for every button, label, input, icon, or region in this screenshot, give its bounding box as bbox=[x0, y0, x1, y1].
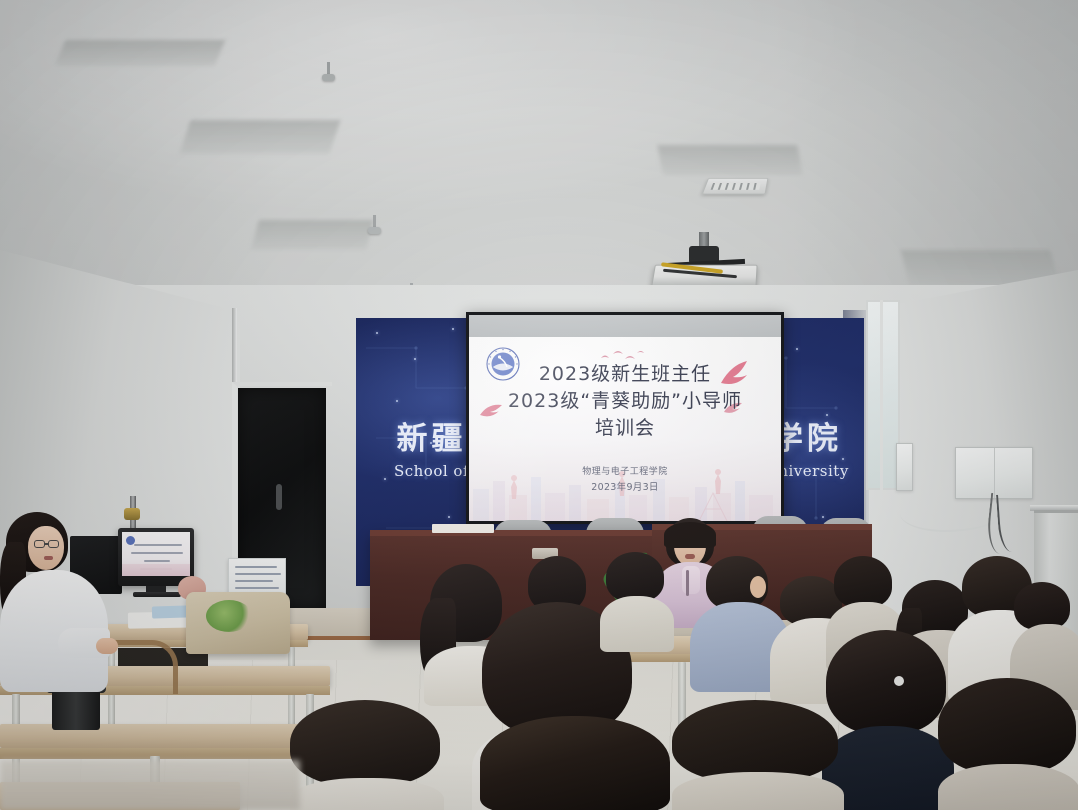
ceiling-stain bbox=[179, 120, 340, 154]
projector-icon[interactable] bbox=[645, 232, 763, 288]
window-mullion bbox=[880, 300, 883, 490]
audience-person-foreground bbox=[290, 700, 440, 810]
paper-on-table bbox=[432, 524, 494, 533]
audience-person-foreground bbox=[938, 678, 1078, 810]
seated-woman-with-glasses bbox=[0, 512, 110, 692]
slide-title: 2023级新生班主任 2023级“青葵助励”小导师 培训会 bbox=[469, 361, 781, 442]
trash-can bbox=[52, 690, 100, 730]
projection-screen-top-band bbox=[469, 315, 781, 339]
slide-title-line-3: 培训会 bbox=[469, 415, 781, 442]
audience-person-foreground bbox=[672, 700, 842, 810]
slide-subtitle: 物理与电子工程学院 2023年9月3日 bbox=[469, 464, 781, 493]
ceiling-stain bbox=[657, 145, 802, 175]
blue-paper-on-desk bbox=[152, 605, 188, 618]
sprinkler-icon bbox=[367, 215, 381, 237]
ceiling bbox=[0, 0, 1078, 330]
audience-person-foreground bbox=[480, 716, 670, 810]
ceiling-stain bbox=[55, 40, 226, 66]
sprinkler-icon bbox=[321, 62, 335, 84]
wall-panel-small bbox=[896, 443, 913, 491]
air-vent-icon bbox=[702, 178, 769, 194]
confidence-monitor-screen bbox=[122, 532, 190, 576]
slide-title-line-2: 2023级“青葵助励”小导师 bbox=[469, 388, 781, 415]
projected-slide: 2023级新生班主任 2023级“青葵助励”小导师 培训会 物理与电子工程学院 … bbox=[469, 337, 781, 521]
pole-clamp bbox=[124, 508, 140, 520]
audience-person bbox=[600, 552, 674, 644]
window bbox=[866, 300, 900, 490]
monitor-base bbox=[133, 592, 181, 597]
slide-subtitle-date: 2023年9月3日 bbox=[469, 479, 781, 493]
foreground-blur bbox=[0, 760, 300, 810]
ceiling-stain bbox=[251, 220, 373, 250]
classroom-photo-scene: 新疆师 School of Phy 学院 University bbox=[0, 0, 1078, 810]
slide-title-line-1: 2023级新生班主任 bbox=[469, 361, 781, 388]
tote-bag-print bbox=[206, 600, 252, 632]
slide-subtitle-org: 物理与电子工程学院 bbox=[469, 464, 781, 477]
